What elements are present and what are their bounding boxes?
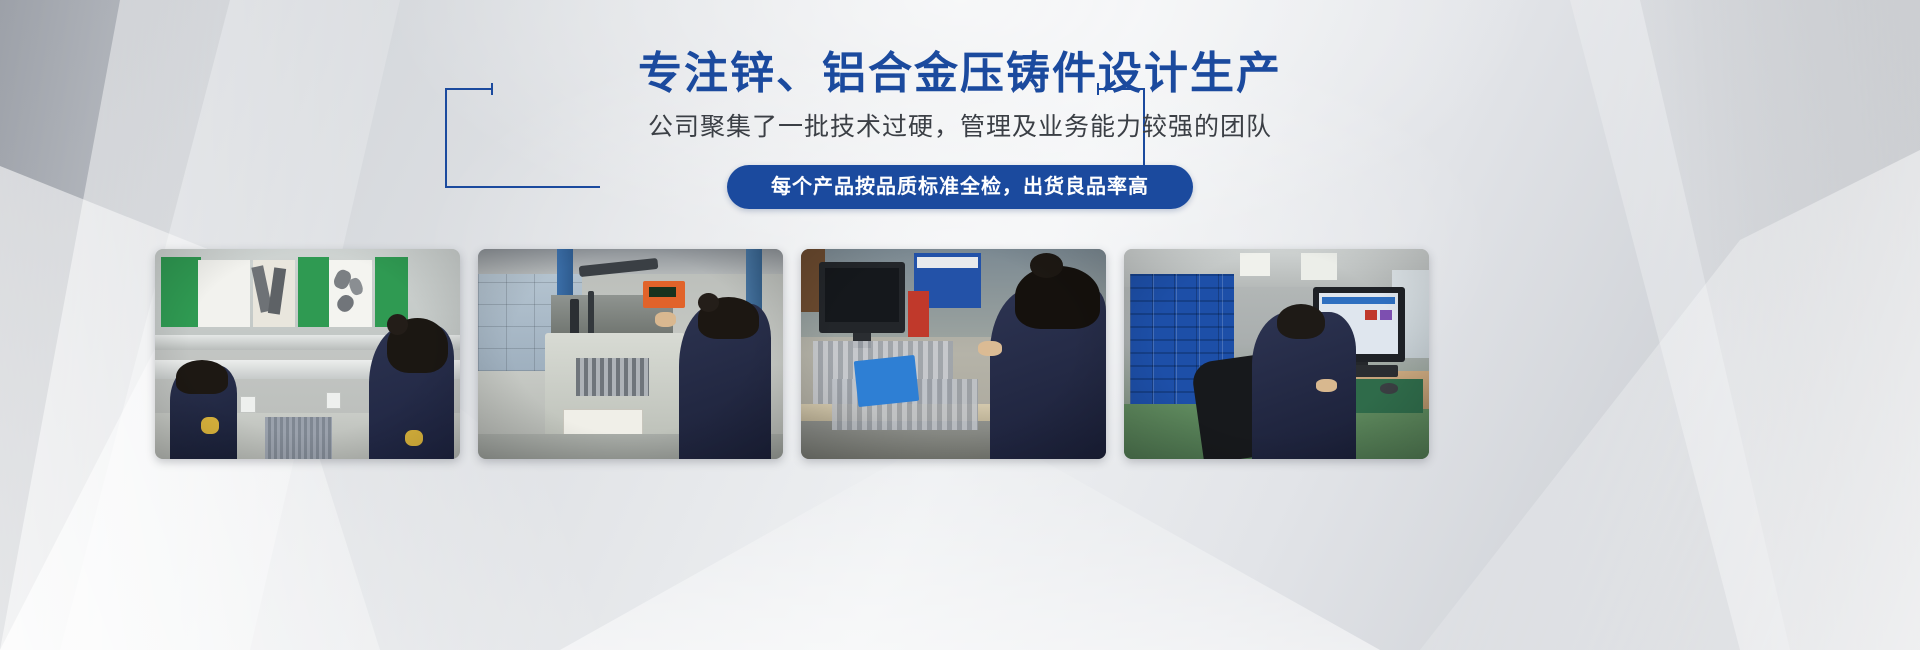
bracket-bottom-left-segment	[445, 186, 600, 188]
gallery-photo[interactable]	[478, 249, 783, 459]
gallery-photo[interactable]	[801, 249, 1106, 459]
gallery-photo[interactable]	[155, 249, 460, 459]
banner-subtitle: 公司聚集了一批技术过硬，管理及业务能力较强的团队	[0, 115, 1920, 140]
banner-title: 专注锌、铝合金压铸件设计生产	[0, 52, 1920, 96]
promo-banner: 专注锌、铝合金压铸件设计生产 公司聚集了一批技术过硬，管理及业务能力较强的团队 …	[0, 0, 1920, 650]
photo-gallery	[155, 249, 1765, 459]
quality-badge: 每个产品按品质标准全检，出货良品率高	[727, 165, 1193, 209]
gallery-photo[interactable]	[1124, 249, 1429, 459]
